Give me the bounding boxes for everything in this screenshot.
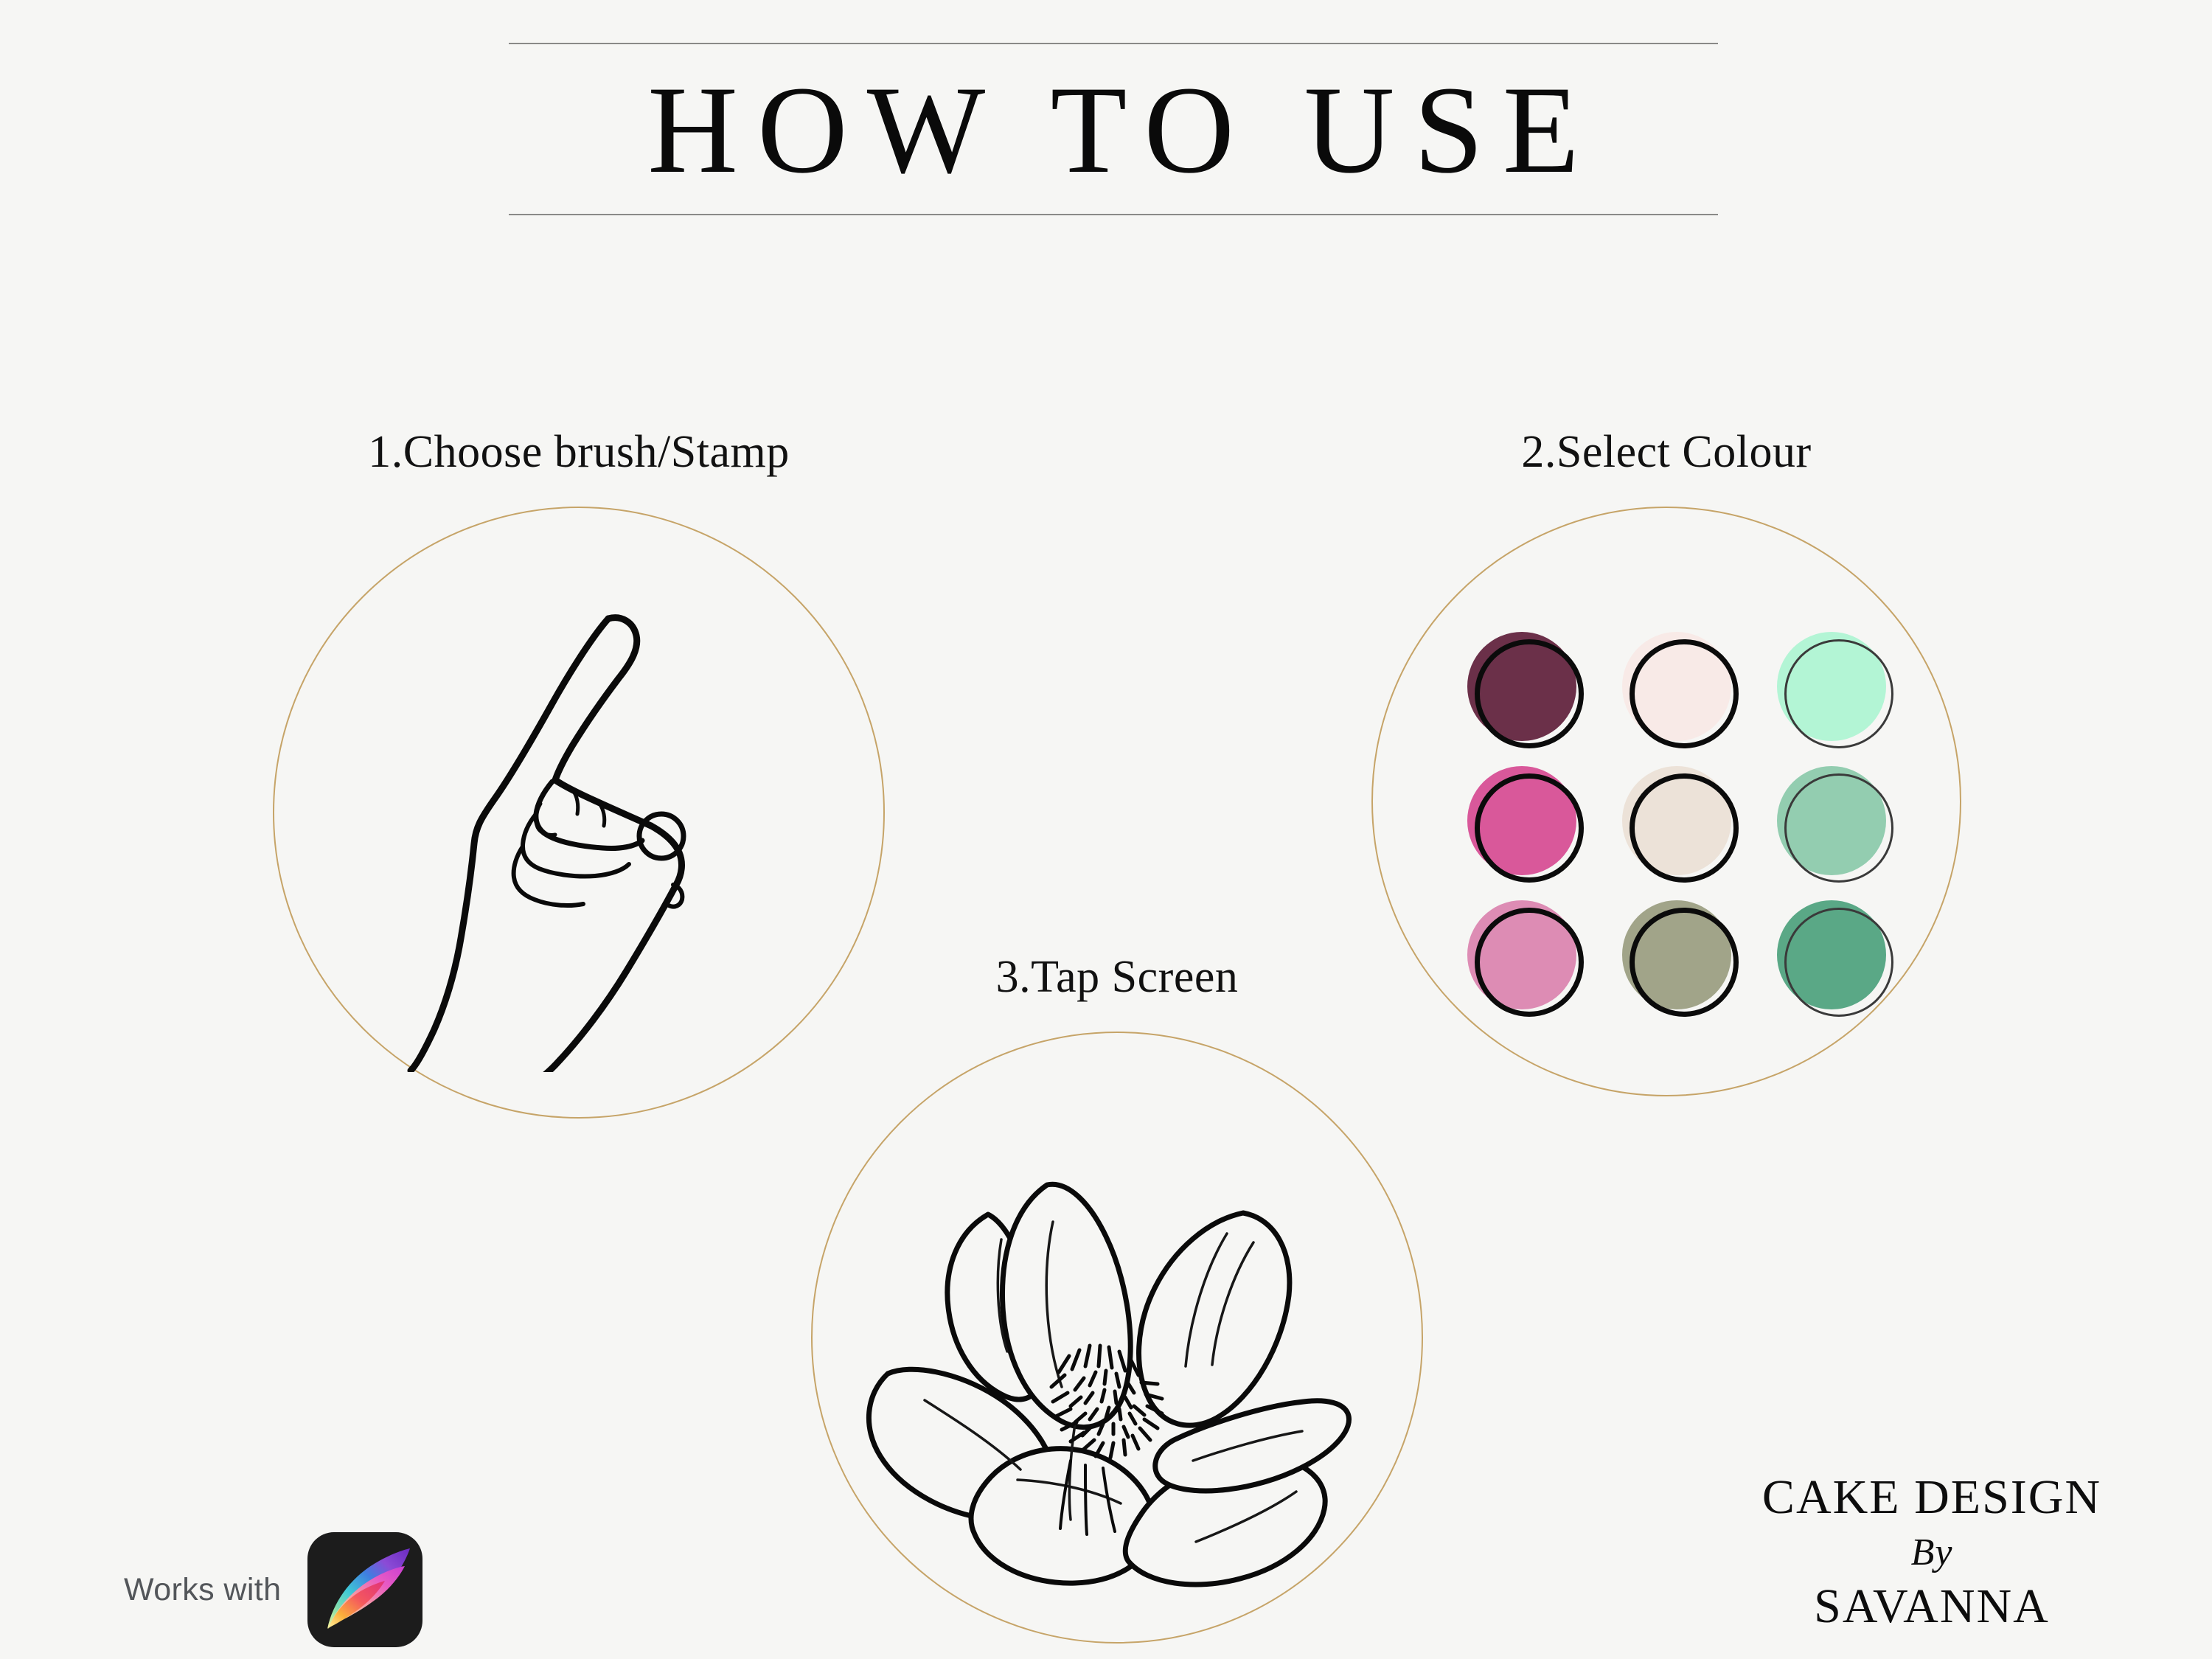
- header-rule-top: [509, 43, 1718, 44]
- colour-swatch[interactable]: [1622, 632, 1739, 748]
- swatch-ring: [1475, 908, 1584, 1017]
- brand-line-by: By: [1755, 1525, 2109, 1580]
- procreate-icon: [307, 1532, 422, 1647]
- swatch-ring: [1630, 773, 1739, 883]
- step-1-label: 1.Choose brush/Stamp: [273, 426, 885, 479]
- step-3-tap-screen: 3.Tap Screen: [811, 951, 1423, 1644]
- swatch-ring: [1630, 639, 1739, 748]
- swatch-ring: [1784, 773, 1893, 883]
- swatch-ring: [1475, 639, 1584, 748]
- step-2-select-colour: 2.Select Colour: [1371, 426, 1961, 1096]
- colour-palette-grid[interactable]: [1467, 632, 1880, 978]
- works-with-block: Works with: [124, 1532, 422, 1647]
- colour-swatch[interactable]: [1777, 900, 1893, 1017]
- swatch-ring: [1475, 773, 1584, 883]
- colour-swatch[interactable]: [1777, 632, 1893, 748]
- colour-swatch[interactable]: [1467, 900, 1584, 1017]
- step-1-circle: [273, 507, 885, 1119]
- page-title: HOW TO USE: [509, 47, 1718, 212]
- brand-line-2: SAVANNA: [1755, 1580, 2109, 1634]
- brand-line-1: CAKE DESIGN: [1755, 1471, 2109, 1525]
- colour-swatch[interactable]: [1622, 900, 1739, 1017]
- step-3-label: 3.Tap Screen: [811, 951, 1423, 1004]
- pointing-hand-icon: [352, 593, 809, 1072]
- header-rule-bottom: [509, 214, 1718, 215]
- page-header: HOW TO USE: [509, 43, 1718, 215]
- swatch-ring: [1630, 908, 1739, 1017]
- works-with-label: Works with: [124, 1572, 281, 1608]
- swatch-ring: [1784, 639, 1893, 748]
- swatch-ring: [1784, 908, 1893, 1017]
- colour-swatch[interactable]: [1467, 632, 1584, 748]
- magnolia-flower-icon: [849, 1151, 1380, 1593]
- step-3-circle: [811, 1032, 1423, 1644]
- step-2-circle: [1371, 507, 1961, 1096]
- step-1-choose-brush: 1.Choose brush/Stamp: [273, 426, 885, 1119]
- colour-swatch[interactable]: [1777, 766, 1893, 883]
- colour-swatch[interactable]: [1622, 766, 1739, 883]
- colour-swatch[interactable]: [1467, 766, 1584, 883]
- brand-logo: CAKE DESIGN By SAVANNA: [1755, 1471, 2109, 1634]
- step-2-label: 2.Select Colour: [1371, 426, 1961, 479]
